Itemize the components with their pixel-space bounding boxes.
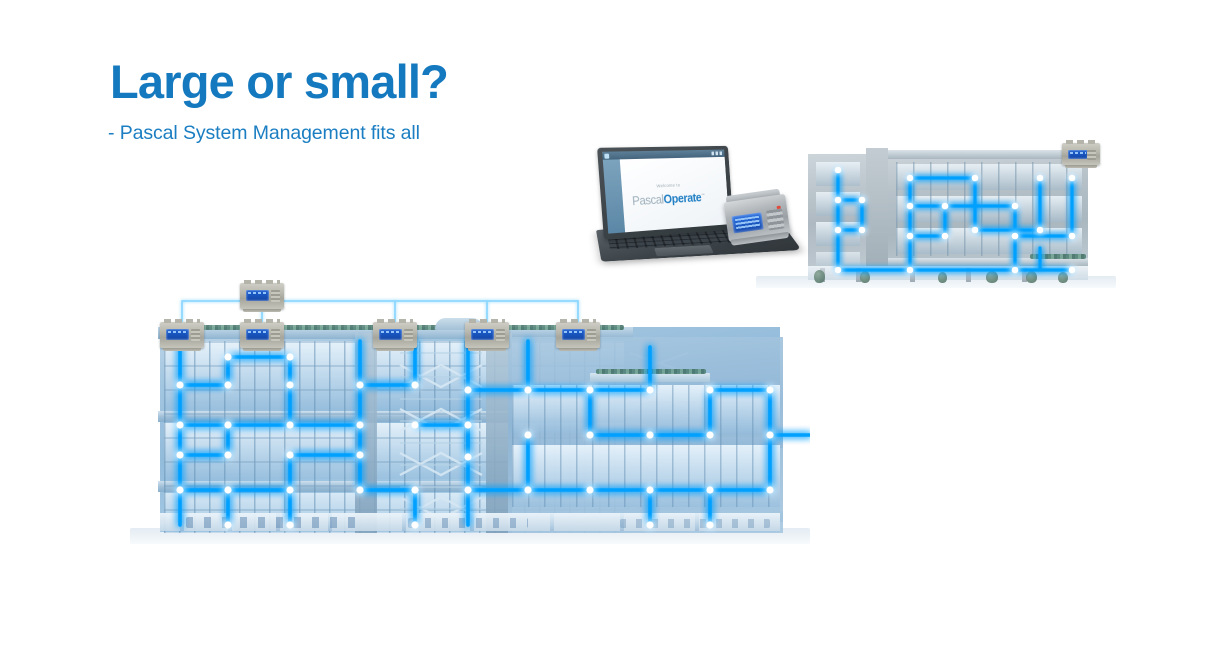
controller-din-tabs xyxy=(377,319,413,323)
shrub xyxy=(938,272,947,283)
controller-lcd-screen xyxy=(379,329,402,340)
small-mullions xyxy=(896,162,1082,256)
controller-bus-4 xyxy=(465,322,509,348)
controller-keypad xyxy=(271,290,280,302)
small-glass xyxy=(816,192,860,216)
shrub xyxy=(860,271,870,283)
small-glass xyxy=(816,222,860,246)
small-building xyxy=(790,148,1100,308)
controller-base xyxy=(163,348,201,351)
app-icon xyxy=(604,153,609,158)
controller-lcd-screen xyxy=(471,329,494,340)
controller-din-tabs xyxy=(1066,140,1096,144)
controller-bus-5 xyxy=(556,322,600,348)
small-glass xyxy=(816,162,860,186)
small-facade-band xyxy=(888,258,1088,266)
controller-din-tabs xyxy=(244,280,280,284)
controller-bus-2 xyxy=(240,322,284,348)
controller-keypad xyxy=(587,329,596,341)
window-controls[interactable] xyxy=(711,151,722,155)
controller-din-tabs xyxy=(164,319,200,323)
controller-small-roof xyxy=(1062,143,1100,165)
controller-keypad xyxy=(496,329,505,341)
controller-din-tabs xyxy=(244,319,280,323)
controller-keypad xyxy=(271,329,280,341)
controller-din-tabs xyxy=(469,319,505,323)
lobby-column xyxy=(180,513,184,531)
page-title: Large or small? xyxy=(110,57,448,106)
lobby-furniture xyxy=(620,519,770,528)
small-building-ground-floor xyxy=(808,266,1088,280)
shrub xyxy=(814,270,825,283)
controller-lcd-screen xyxy=(732,212,764,233)
controller-base xyxy=(243,348,281,351)
laptop-lid: Welcome to PascalOperate™ xyxy=(597,146,733,240)
controller-din-tabs xyxy=(560,319,596,323)
right-wing-mullions xyxy=(512,385,780,507)
controller-base xyxy=(559,348,597,351)
lobby-furniture xyxy=(408,518,528,528)
pillar xyxy=(966,268,971,282)
controller-lcd-screen xyxy=(562,329,585,340)
controller-keypad[interactable] xyxy=(766,208,785,230)
shrub xyxy=(1058,272,1068,283)
shrub xyxy=(1026,271,1037,283)
controller-elevated xyxy=(240,283,284,309)
building-core xyxy=(355,333,377,533)
brand-prefix: Pascal xyxy=(632,193,664,208)
controller-keypad xyxy=(191,329,200,341)
controller-bus-1 xyxy=(160,322,204,348)
lobby-column xyxy=(402,513,406,531)
laptop-trackpad[interactable] xyxy=(654,245,714,256)
controller-lcd-screen xyxy=(246,290,269,301)
controller-keypad xyxy=(1087,150,1096,160)
pillar xyxy=(910,268,915,282)
trademark-symbol: ™ xyxy=(701,193,705,198)
controller-bus-3 xyxy=(373,322,417,348)
laptop-screen[interactable]: Welcome to PascalOperate™ xyxy=(602,150,729,234)
entrance-canopy xyxy=(590,373,710,382)
atrium-stairs xyxy=(398,347,484,529)
controller-base xyxy=(243,309,281,312)
shrub xyxy=(986,271,998,283)
hero-scene: Large or small? - Pascal System Manageme… xyxy=(0,0,1210,670)
pascal-controller-device xyxy=(723,188,792,248)
controller-keypad xyxy=(404,329,413,341)
controller-lcd-screen xyxy=(246,329,269,340)
controller-base xyxy=(376,348,414,351)
small-building-core xyxy=(866,148,888,276)
page-subtitle: - Pascal System Management fits all xyxy=(108,122,420,145)
canopy-greenery xyxy=(596,369,706,374)
controller-base xyxy=(1065,165,1097,168)
lobby-column xyxy=(550,513,554,531)
controller-base xyxy=(468,348,506,351)
controller-lcd-screen xyxy=(1068,150,1088,159)
controller-lcd-screen xyxy=(166,329,189,340)
brand-suffix: Operate xyxy=(663,191,702,206)
small-facade-band xyxy=(888,150,1088,159)
lobby-furniture xyxy=(186,517,356,528)
roof-greenery xyxy=(1030,254,1086,259)
